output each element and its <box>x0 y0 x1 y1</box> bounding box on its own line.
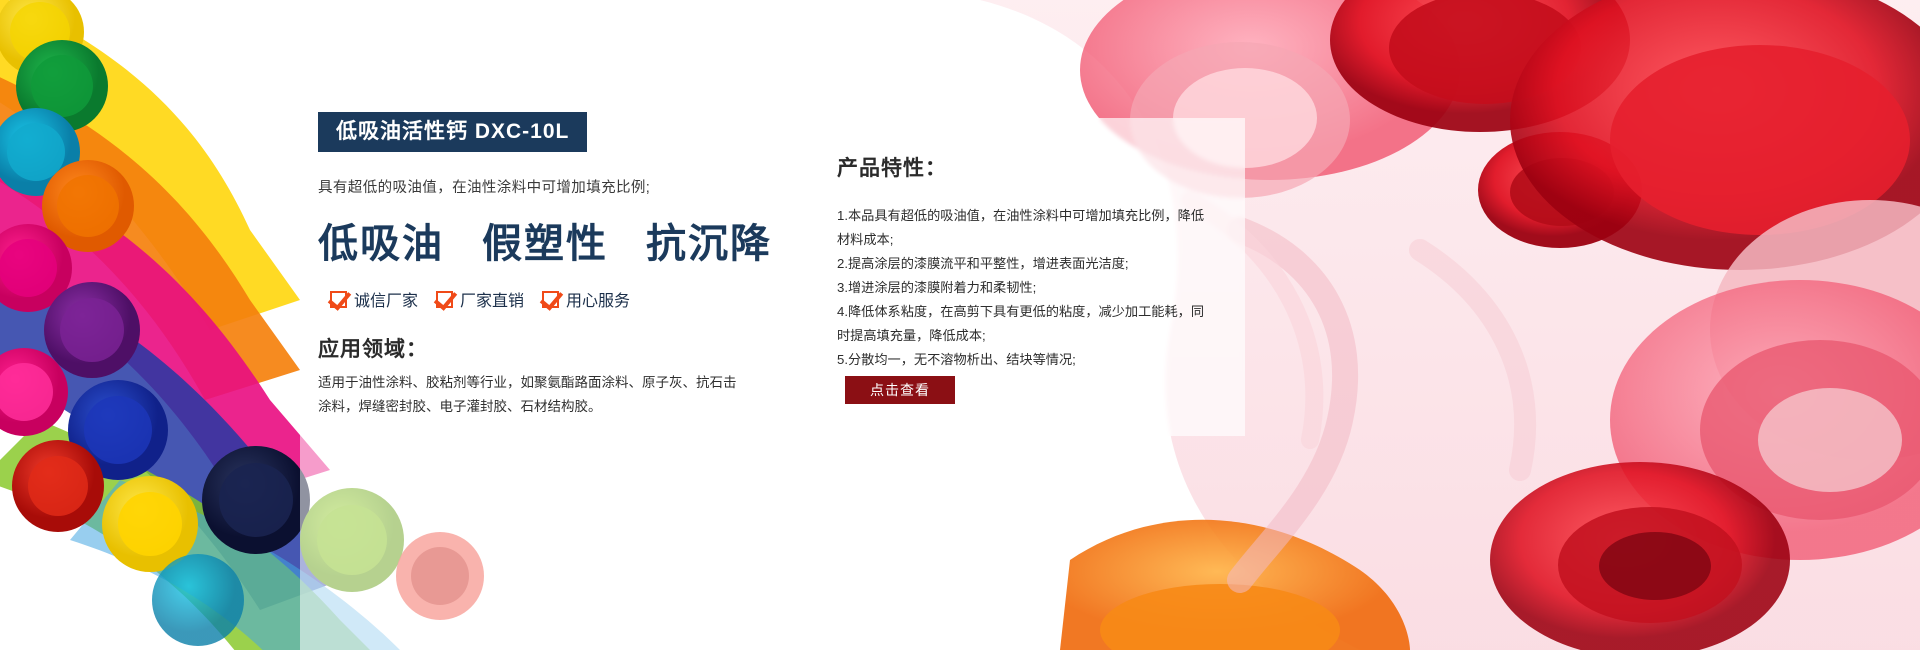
feature-list-item: 1.本品具有超低的吸油值，在油性涂料中可增加填充比例，降低材料成本; <box>837 204 1215 252</box>
checkbox-check-icon <box>542 291 559 308</box>
product-title-badge: 低吸油活性钙 DXC-10L <box>318 112 587 152</box>
trust-badge-item: 诚信厂家 <box>330 287 418 311</box>
trust-badge-label: 厂家直销 <box>460 287 524 311</box>
features-panel-title: 产品特性： <box>837 152 1215 182</box>
product-info-block: 低吸油活性钙 DXC-10L 具有超低的吸油值，在油性涂料中可增加填充比例; 低… <box>318 112 748 418</box>
trust-badge-label: 用心服务 <box>566 287 630 311</box>
feature-list-item: 3.增进涂层的漆膜附着力和柔韧性; <box>837 276 1215 300</box>
checkbox-check-icon <box>436 291 453 308</box>
feature-list-item: 5.分散均一，无不溶物析出、结块等情况; <box>837 348 1215 372</box>
application-field-description: 适用于油性涂料、胶粘剂等行业，如聚氨酯路面涂料、原子灰、抗石击涂料，焊缝密封胶、… <box>318 371 738 418</box>
feature-list-item: 2.提高涂层的漆膜流平和平整性，增进表面光洁度; <box>837 252 1215 276</box>
headline-word-3: 抗沉降 <box>646 221 772 266</box>
headline-word-1: 低吸油 <box>318 221 444 266</box>
headline-word-2: 假塑性 <box>482 221 608 266</box>
application-field-title: 应用领域： <box>318 333 748 363</box>
trust-badges: 诚信厂家 厂家直销 用心服务 <box>330 287 748 311</box>
view-details-button[interactable]: 点击查看 <box>845 376 955 404</box>
product-banner: 低吸油活性钙 DXC-10L 具有超低的吸油值，在油性涂料中可增加填充比例; 低… <box>0 0 1920 650</box>
trust-badge-label: 诚信厂家 <box>354 287 418 311</box>
checkbox-check-icon <box>330 291 347 308</box>
product-subline: 具有超低的吸油值，在油性涂料中可增加填充比例; <box>318 176 748 197</box>
product-headline: 低吸油 假塑性 抗沉降 <box>318 211 748 269</box>
trust-badge-item: 用心服务 <box>542 287 630 311</box>
features-list: 1.本品具有超低的吸油值，在油性涂料中可增加填充比例，降低材料成本; 2.提高涂… <box>837 204 1215 372</box>
trust-badge-item: 厂家直销 <box>436 287 524 311</box>
feature-list-item: 4.降低体系粘度，在高剪下具有更低的粘度，减少加工能耗，同时提高填充量，降低成本… <box>837 300 1215 348</box>
